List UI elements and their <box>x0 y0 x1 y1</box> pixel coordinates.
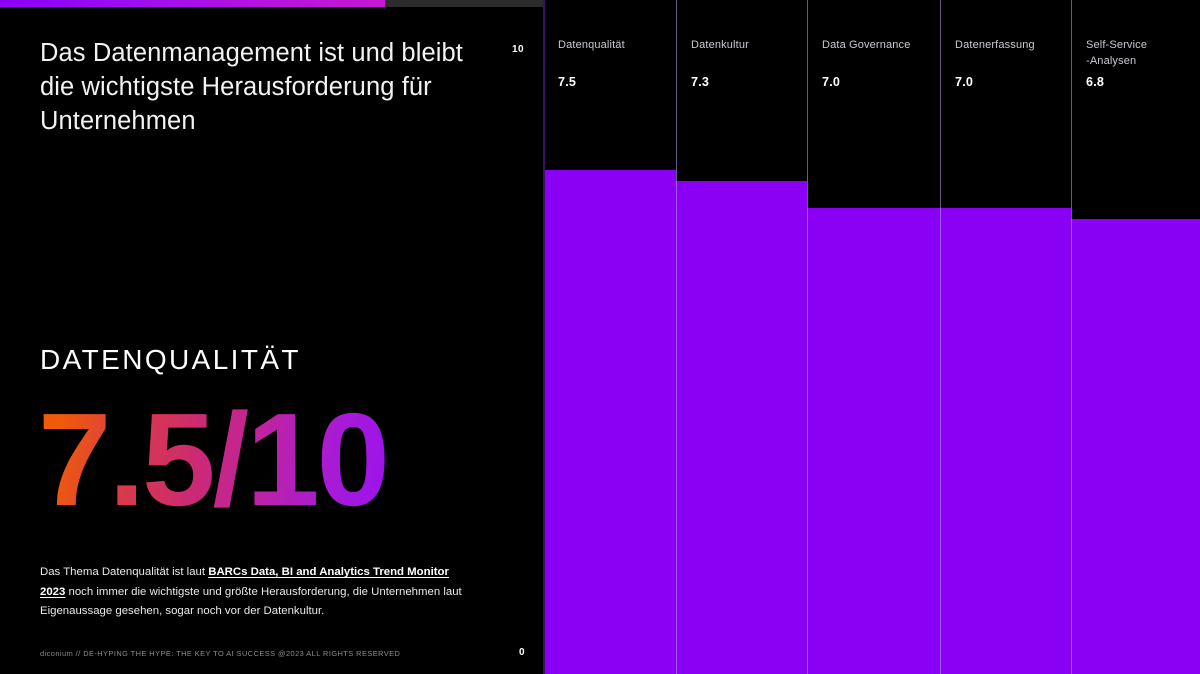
chart-bar-value: 7.3 <box>691 75 709 89</box>
chart-bar[interactable] <box>1071 219 1200 674</box>
chart-column[interactable]: Self-Service -Analysen6.8 <box>1071 0 1200 674</box>
axis-bottom-label: 0 <box>519 647 525 658</box>
chart-column[interactable]: Datenerfassung7.0 <box>940 0 1071 674</box>
chart-bar[interactable] <box>940 208 1071 674</box>
chart-bar-value: 7.0 <box>955 75 973 89</box>
chart-column-separator <box>676 0 677 674</box>
progress-bar-fill <box>0 0 385 7</box>
chart-column[interactable]: Datenkultur7.3 <box>676 0 807 674</box>
chart-bar-label: Datenerfassung <box>955 38 1065 54</box>
slide-root: Das Datenmanagement ist und bleibt die w… <box>0 0 1200 674</box>
chart-column[interactable]: Datenqualität7.5 <box>543 0 676 674</box>
chart-left-divider <box>543 0 545 674</box>
chart-column-separator <box>940 0 941 674</box>
chart-column-separator <box>1071 0 1072 674</box>
slide-headline: Das Datenmanagement ist und bleibt die w… <box>40 36 480 138</box>
chart-bar[interactable] <box>676 181 807 674</box>
chart-column-separator <box>807 0 808 674</box>
bar-chart: Datenqualität7.5Datenkultur7.3Data Gover… <box>543 0 1200 674</box>
footer-copyright: diconium // DE-HYPING THE HYPE: THE KEY … <box>40 648 510 659</box>
chart-bar[interactable] <box>543 170 676 674</box>
axis-top-label: 10 <box>512 44 524 55</box>
chart-bar-value: 7.5 <box>558 75 576 89</box>
chart-bar-label: Datenkultur <box>691 38 801 54</box>
paragraph-part-2: noch immer die wichtigste und größte Her… <box>40 586 462 618</box>
chart-column[interactable]: Data Governance7.0 <box>807 0 940 674</box>
metric-kicker-label: DATENQUALITÄT <box>40 344 301 376</box>
chart-bar-label: Datenqualität <box>558 38 668 54</box>
chart-bar-label: Data Governance <box>822 38 932 54</box>
chart-bar-value: 7.0 <box>822 75 840 89</box>
chart-bar[interactable] <box>807 208 940 674</box>
body-paragraph: Das Thema Datenqualität ist laut BARCs D… <box>40 563 472 622</box>
left-content-panel: Das Datenmanagement ist und bleibt die w… <box>0 7 543 674</box>
chart-bar-label: Self-Service -Analysen <box>1086 38 1196 69</box>
paragraph-part-1: Das Thema Datenqualität ist laut <box>40 566 208 578</box>
big-score-value: 7.5/10 <box>38 385 387 535</box>
chart-bar-value: 6.8 <box>1086 75 1104 89</box>
